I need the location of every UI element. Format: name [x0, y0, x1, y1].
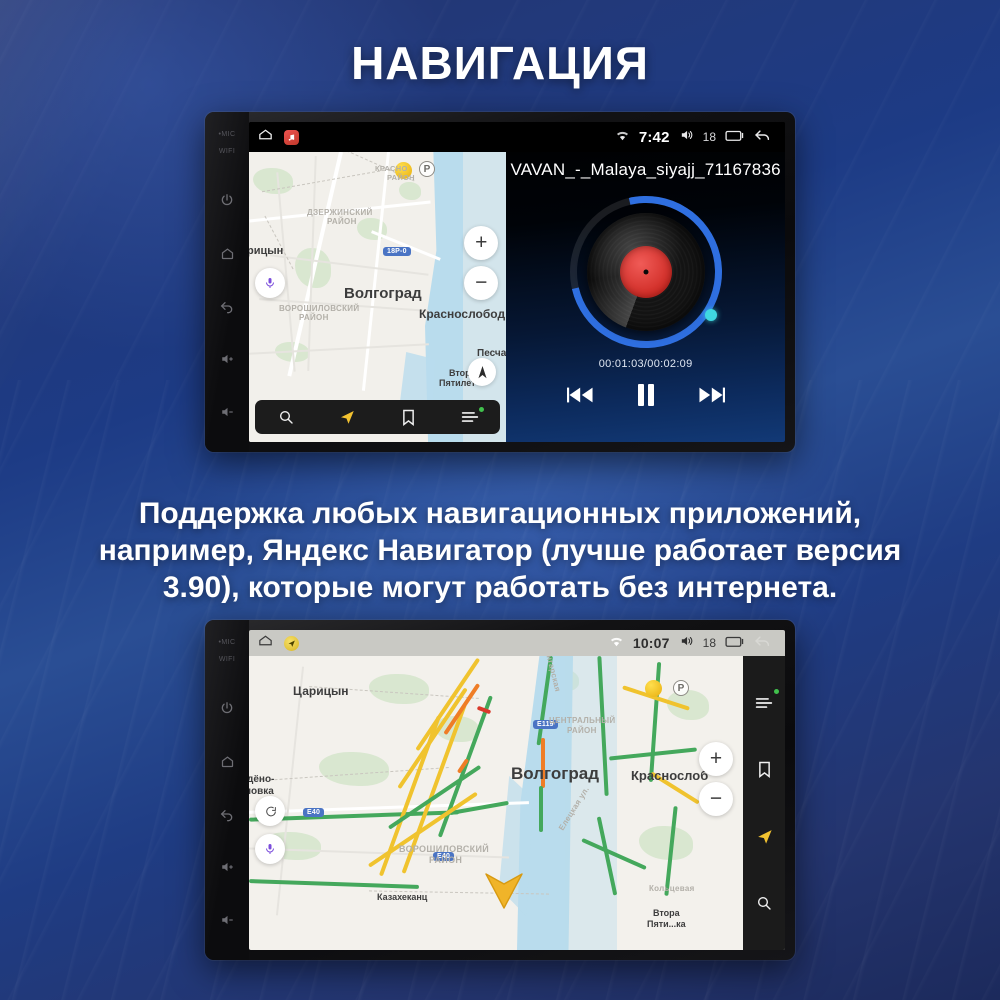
map-label-krasno-sub: РАЙОН — [387, 173, 415, 182]
volume-icon — [679, 634, 694, 652]
map-label-krasnoslobodsk: Краснослобод — [419, 307, 505, 321]
previous-button[interactable] — [560, 380, 602, 410]
power-button[interactable] — [214, 187, 240, 213]
yandex-maps-pane[interactable]: P КРАСНО РАЙОН ДЗЕРЖИНСКИЙ РАЙОН ВОРОШИЛ… — [249, 152, 506, 442]
navigator-side-rail[interactable] — [743, 656, 785, 950]
track-title: VAVAN_-_Malaya_siyajj_71167836 — [506, 160, 785, 180]
map-label-krasno: КРАСНО — [375, 164, 408, 173]
vinyl-hole — [643, 270, 648, 275]
volume-value: 18 — [703, 130, 716, 144]
music-app-icon[interactable] — [284, 130, 299, 145]
map-label-vtoraya: Втора — [653, 908, 680, 918]
map-label-voroshilovsky: ВОРОШИЛОВСКИЙ — [279, 304, 359, 313]
status-time: 7:42 — [639, 129, 670, 146]
microphone-icon[interactable] — [255, 834, 285, 864]
map-zoom-controls[interactable]: + − — [699, 742, 733, 816]
wifi-label-icon: WIFI — [214, 651, 240, 668]
bookmarks-tab[interactable] — [390, 404, 426, 430]
wifi-icon — [609, 635, 624, 652]
album-art-visualizer[interactable] — [570, 196, 722, 348]
volume-icon — [679, 128, 694, 146]
progress-indicator-dot[interactable] — [705, 309, 717, 321]
navigate-button[interactable] — [749, 822, 779, 850]
caption-line-2: например, Яндекс Навигатор (лучше работа… — [50, 532, 950, 569]
status-time: 10:07 — [633, 635, 670, 651]
screen-bottom[interactable]: 10:07 18 — [249, 630, 785, 950]
zoom-out-button[interactable]: − — [699, 782, 733, 816]
navigation-cursor-arrow — [481, 864, 527, 915]
search-button[interactable] — [749, 889, 779, 917]
android-status-bar-bottom: 10:07 18 — [249, 630, 785, 656]
road-shield-e40-west: E40 — [303, 808, 324, 817]
volume-down-button[interactable] — [214, 399, 240, 425]
home-button[interactable] — [214, 240, 240, 266]
map-label-tsaritsyn: Царицын — [293, 684, 348, 698]
volume-up-button[interactable] — [214, 346, 240, 372]
hardware-button-column-top: •MIC WIFI — [205, 112, 249, 452]
search-tab[interactable] — [268, 404, 304, 430]
playback-controls[interactable] — [506, 380, 785, 410]
volume-up-button[interactable] — [214, 854, 240, 880]
map-canvas[interactable]: P КРАСНО РАЙОН ДЗЕРЖИНСКИЙ РАЙОН ВОРОШИЛ… — [249, 152, 506, 442]
map-label-voroshilovsky-sub: РАЙОН — [429, 855, 462, 865]
map-label-krasnoslob: Краснослоб — [631, 768, 708, 783]
map-label-deno: дёно- — [249, 774, 274, 785]
map-label-city: Волгоград — [511, 764, 599, 784]
playback-time: 00:01:03/00:02:09 — [506, 358, 785, 370]
recents-icon[interactable] — [725, 634, 744, 653]
map-label-tsaritsyn: рицын — [249, 245, 283, 257]
map-label-dzerzhinsky: ДЗЕРЖИНСКИЙ — [307, 208, 373, 217]
map-label-central-sub: РАЙОН — [567, 726, 597, 735]
page-title: НАВИГАЦИЯ — [0, 36, 1000, 90]
media-player-pane[interactable]: VAVAN_-_Malaya_siyajj_71167836 00:01:03/… — [506, 122, 785, 442]
power-button[interactable] — [214, 695, 240, 721]
menu-badge — [774, 689, 779, 694]
parking-icon[interactable]: P — [419, 161, 435, 177]
android-status-bar-top: 7:42 18 — [249, 122, 785, 152]
parking-icon[interactable]: P — [673, 680, 689, 696]
map-label-voroshilovsky: ВОРОШИЛОВСКИЙ — [399, 844, 489, 854]
feature-caption: Поддержка любых навигационных приложений… — [50, 495, 950, 606]
hardware-button-column-bottom: •MIC WIFI — [205, 620, 249, 960]
back-button[interactable] — [214, 293, 240, 319]
back-button[interactable] — [214, 801, 240, 827]
map-label-pyatiletka: Пяти...ка — [647, 919, 686, 929]
mic-label-icon: •MIC — [214, 634, 240, 651]
volume-value: 18 — [703, 636, 716, 650]
mic-label-icon: •MIC — [214, 126, 240, 143]
caption-line-3: 3.90), которые могут работать без интерн… — [50, 569, 950, 606]
map-label-kazakh: Казахеканц — [377, 892, 427, 902]
split-screen-layout: P КРАСНО РАЙОН ДЗЕРЖИНСКИЙ РАЙОН ВОРОШИЛ… — [249, 122, 785, 442]
map-label-koltsevaya: Кольцевая — [649, 884, 695, 893]
pause-button[interactable] — [625, 380, 667, 410]
device-top-head-unit: •MIC WIFI — [205, 112, 795, 452]
map-tab-bar[interactable] — [255, 400, 500, 434]
chat-icon[interactable] — [255, 796, 285, 826]
navigate-tab[interactable] — [329, 404, 365, 430]
caption-line-1: Поддержка любых навигационных приложений… — [50, 495, 950, 532]
bookmarks-button[interactable] — [749, 756, 779, 784]
screen-top[interactable]: 7:42 18 — [249, 122, 785, 442]
microphone-icon[interactable] — [255, 268, 285, 298]
navigator-app-icon[interactable] — [284, 636, 299, 651]
back-icon[interactable] — [753, 633, 773, 653]
volume-down-button[interactable] — [214, 907, 240, 933]
device-bottom-head-unit: •MIC WIFI — [205, 620, 795, 960]
next-button[interactable] — [690, 380, 732, 410]
menu-tab[interactable] — [452, 404, 488, 430]
vinyl-record-icon — [587, 213, 705, 331]
road-shield: 18Р-0 — [383, 247, 411, 256]
map-label-central: ЦЕНТРАЛЬНЫЙ — [549, 716, 615, 725]
menu-button[interactable] — [749, 689, 779, 717]
home-button[interactable] — [214, 748, 240, 774]
map-poi-yellow[interactable] — [645, 680, 662, 697]
zoom-in-button[interactable]: + — [699, 742, 733, 776]
map-label-city: Волгоград — [344, 285, 422, 302]
map-label-dzerzhinsky-sub: РАЙОН — [327, 217, 357, 226]
wifi-icon — [615, 129, 630, 146]
back-icon[interactable] — [753, 127, 773, 147]
menu-badge — [479, 407, 484, 412]
home-icon[interactable] — [257, 632, 274, 654]
map-label-voroshilovsky-sub: РАЙОН — [299, 313, 329, 322]
recents-icon[interactable] — [725, 128, 744, 147]
home-icon[interactable] — [257, 126, 274, 148]
wifi-label-icon: WIFI — [214, 143, 240, 160]
